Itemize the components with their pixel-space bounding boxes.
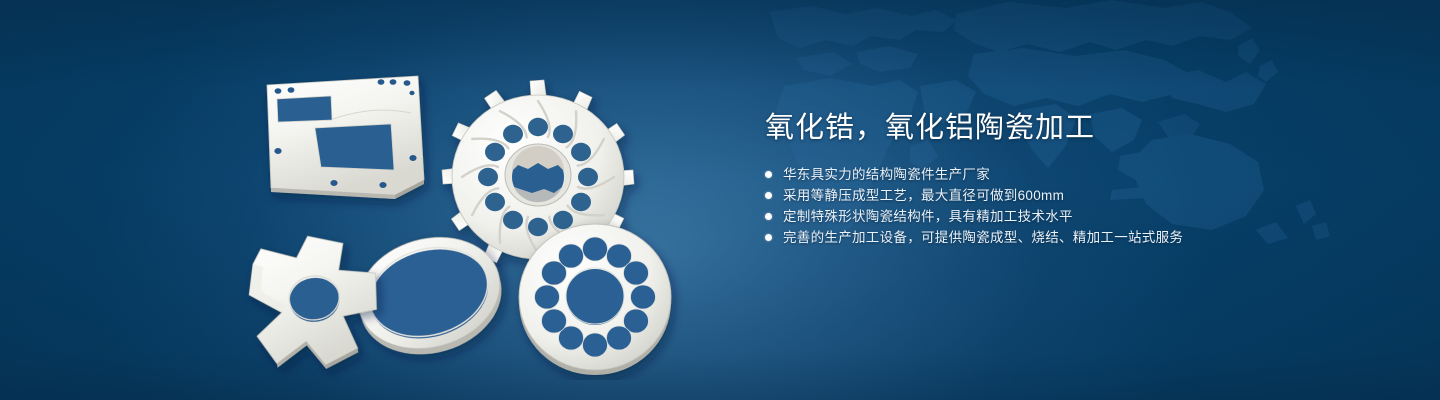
list-item-label: 完善的生产加工设备，可提供陶瓷成型、烧结、精加工一站式服务	[783, 227, 1183, 248]
product-ceramic-plate	[267, 76, 424, 199]
bullet-dot-icon	[765, 192, 772, 199]
list-item-label: 定制特殊形状陶瓷结构件，具有精加工技术水平	[783, 206, 1073, 227]
product-ceramic-cross-plate	[242, 228, 387, 379]
product-ceramic-perforated-disc	[519, 224, 671, 375]
list-item: 定制特殊形状陶瓷结构件，具有精加工技术水平	[765, 206, 1385, 227]
list-item-label: 华东具实力的结构陶瓷件生产厂家	[783, 164, 990, 185]
hero-banner: 氧化锆，氧化铝陶瓷加工 华东具实力的结构陶瓷件生产厂家 采用等静压成型工艺，最大…	[0, 0, 1440, 400]
banner-headline: 氧化锆，氧化铝陶瓷加工	[765, 108, 1385, 148]
list-item-label: 采用等静压成型工艺，最大直径可做到600mm	[783, 185, 1064, 206]
bullet-dot-icon	[765, 213, 772, 220]
bullet-dot-icon	[765, 171, 772, 178]
list-item: 华东具实力的结构陶瓷件生产厂家	[765, 164, 1385, 185]
bullet-dot-icon	[765, 234, 772, 241]
list-item: 完善的生产加工设备，可提供陶瓷成型、烧结、精加工一站式服务	[765, 227, 1385, 248]
banner-text-column: 氧化锆，氧化铝陶瓷加工 华东具实力的结构陶瓷件生产厂家 采用等静压成型工艺，最大…	[765, 108, 1385, 248]
list-item: 采用等静压成型工艺，最大直径可做到600mm	[765, 185, 1385, 206]
banner-feature-list: 华东具实力的结构陶瓷件生产厂家 采用等静压成型工艺，最大直径可做到600mm 定…	[765, 164, 1385, 248]
product-photo-group	[205, 35, 715, 380]
